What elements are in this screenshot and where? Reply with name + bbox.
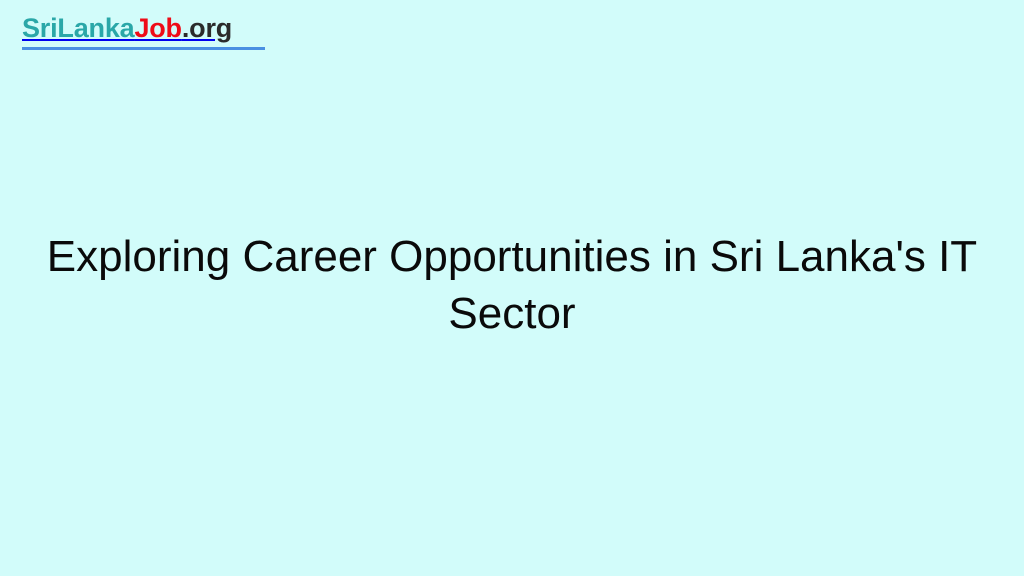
site-logo-text: SriLankaJob.org [22, 13, 265, 43]
site-logo-part-org: .org [182, 13, 232, 43]
site-logo-part-job: Job [134, 13, 181, 43]
site-logo-underline [22, 47, 265, 50]
page-title: Exploring Career Opportunities in Sri La… [0, 228, 1024, 342]
site-logo[interactable]: SriLankaJob.org [22, 13, 265, 50]
page-root: SriLankaJob.org Exploring Career Opportu… [0, 0, 1024, 576]
site-logo-part-srilanka: SriLanka [22, 13, 134, 43]
